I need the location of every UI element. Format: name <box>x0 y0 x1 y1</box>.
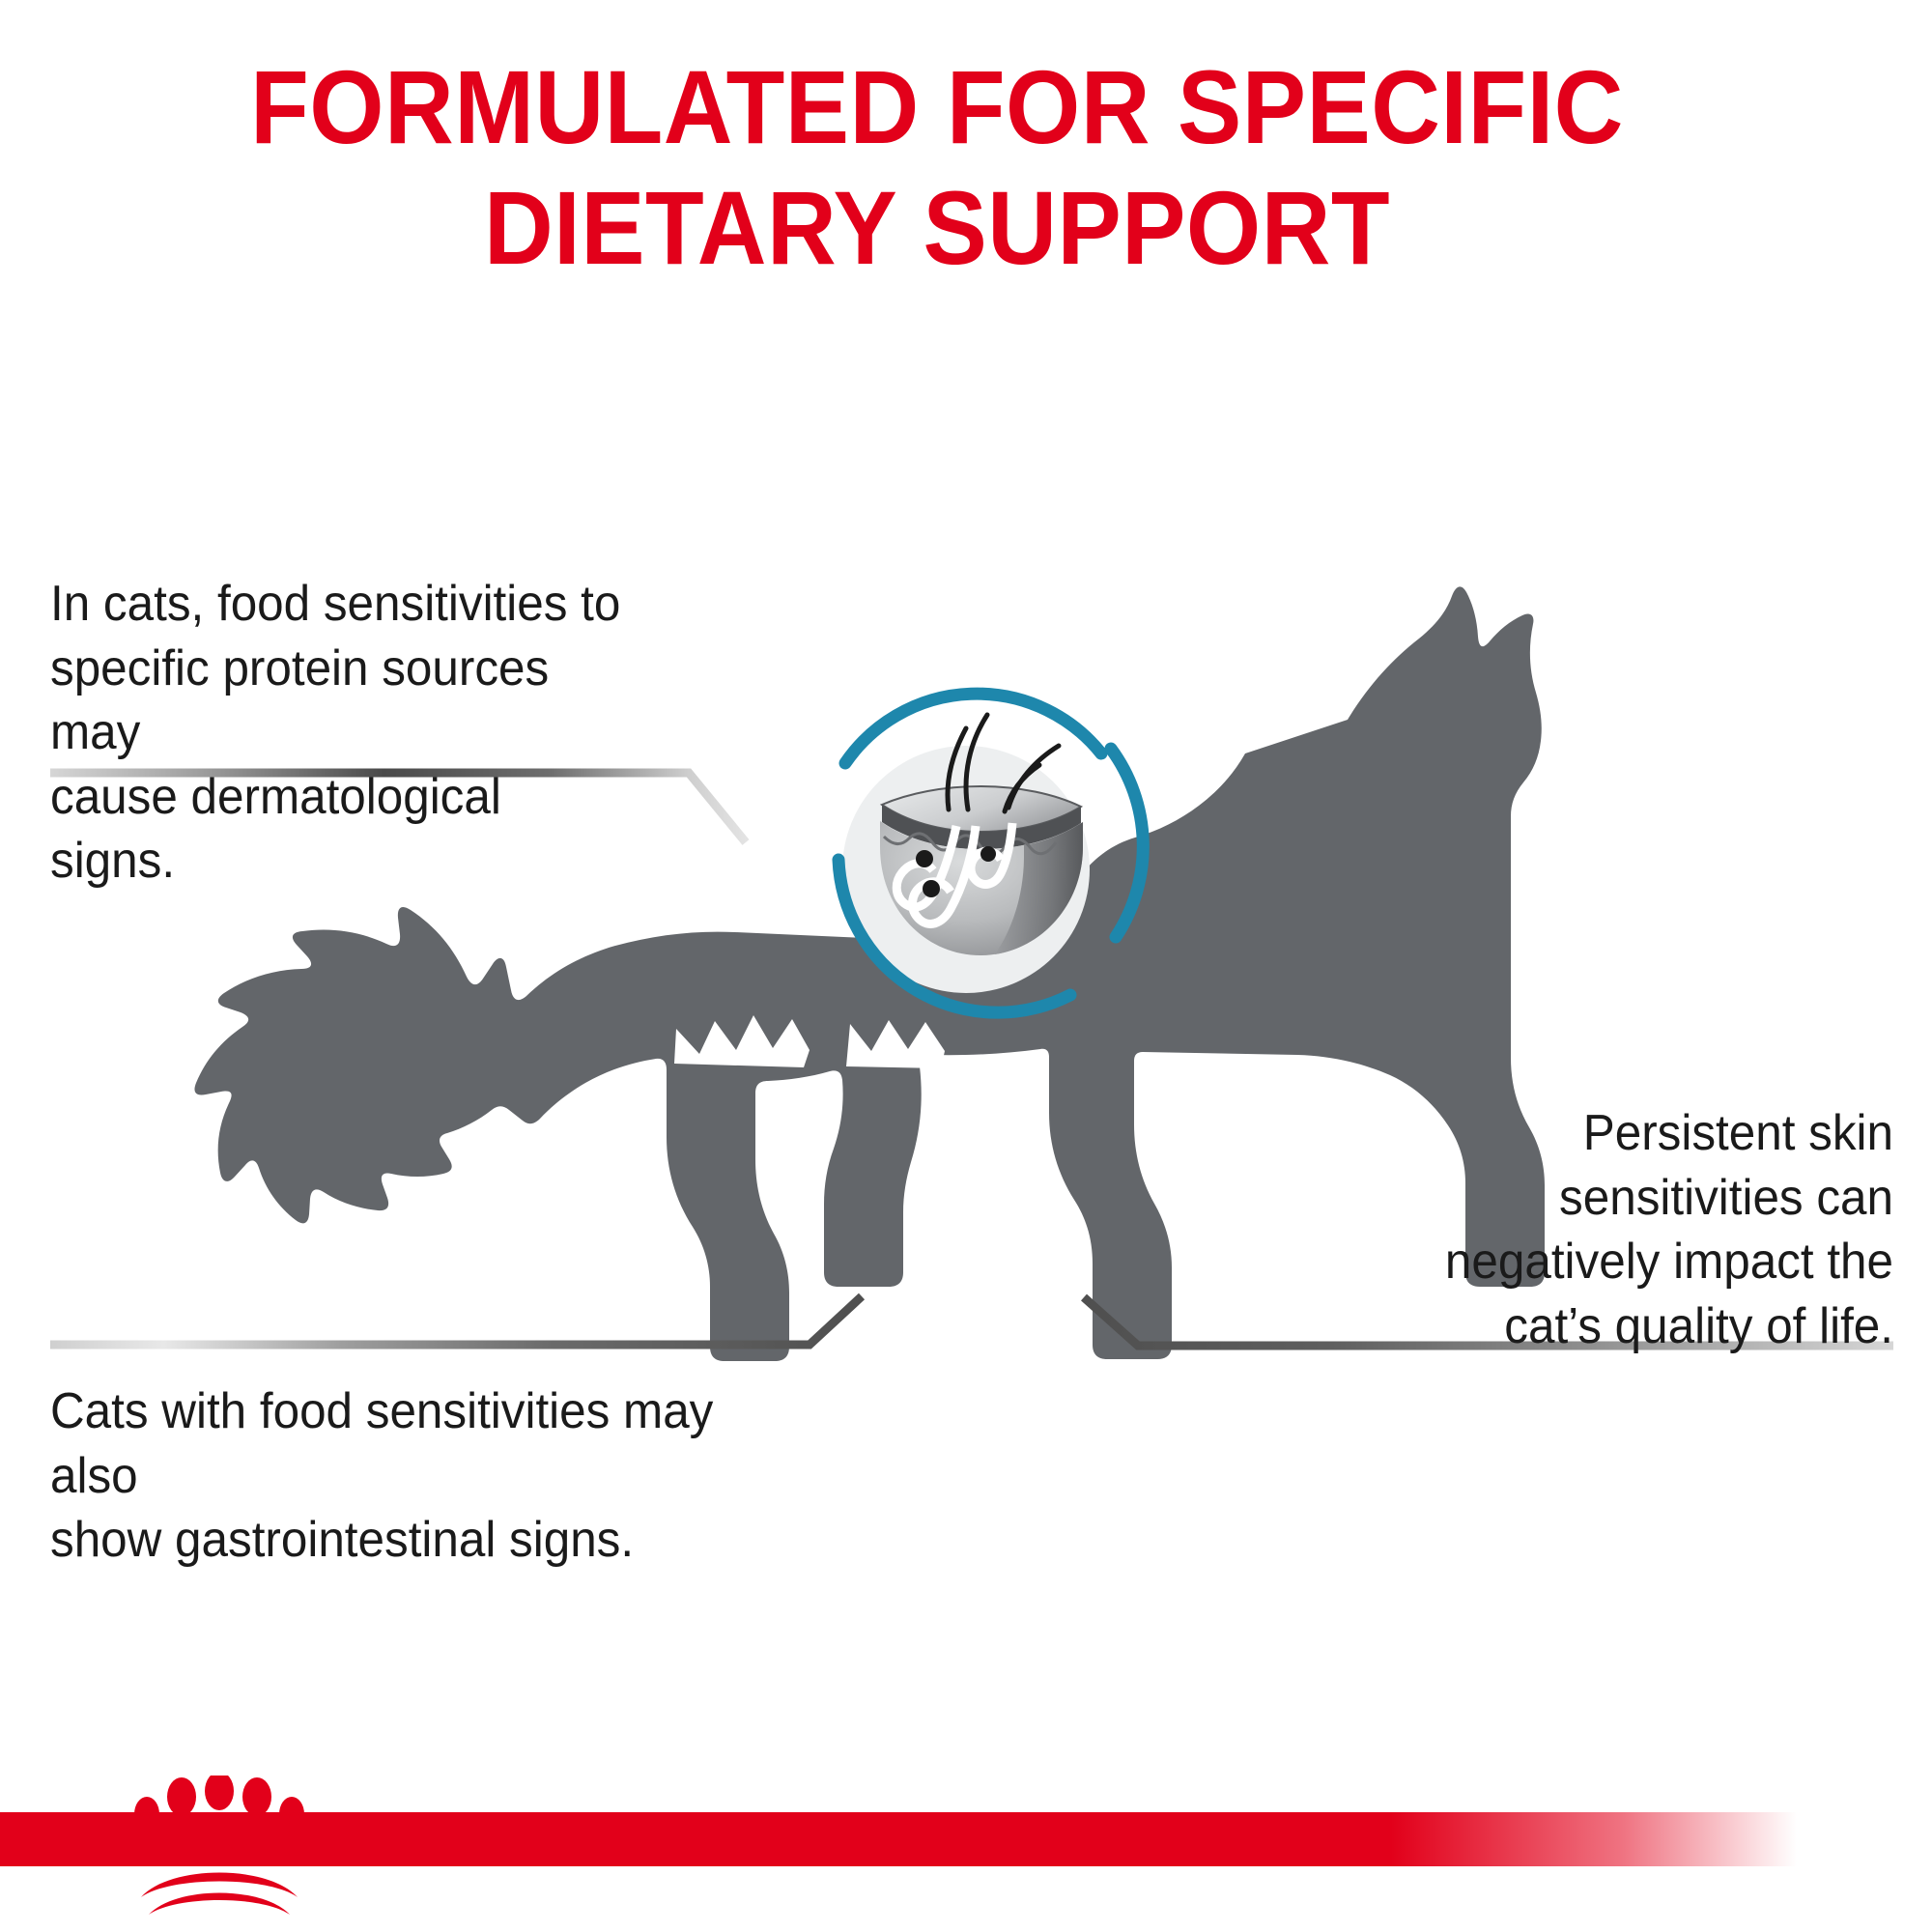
callout-bottom-left: Cats with food sensitivities may also sh… <box>50 1379 803 1573</box>
callout-right: Persistent skin sensitivities can negati… <box>1324 1101 1893 1358</box>
royal-canin-crown-icon <box>128 1776 311 1920</box>
callout-top-left: In cats, food sensitivities to specific … <box>50 572 638 894</box>
poster-canvas: FORMULATED FOR SPECIFIC DIETARY SUPPORT <box>0 0 1932 1932</box>
artwork-layer <box>0 0 1932 1932</box>
